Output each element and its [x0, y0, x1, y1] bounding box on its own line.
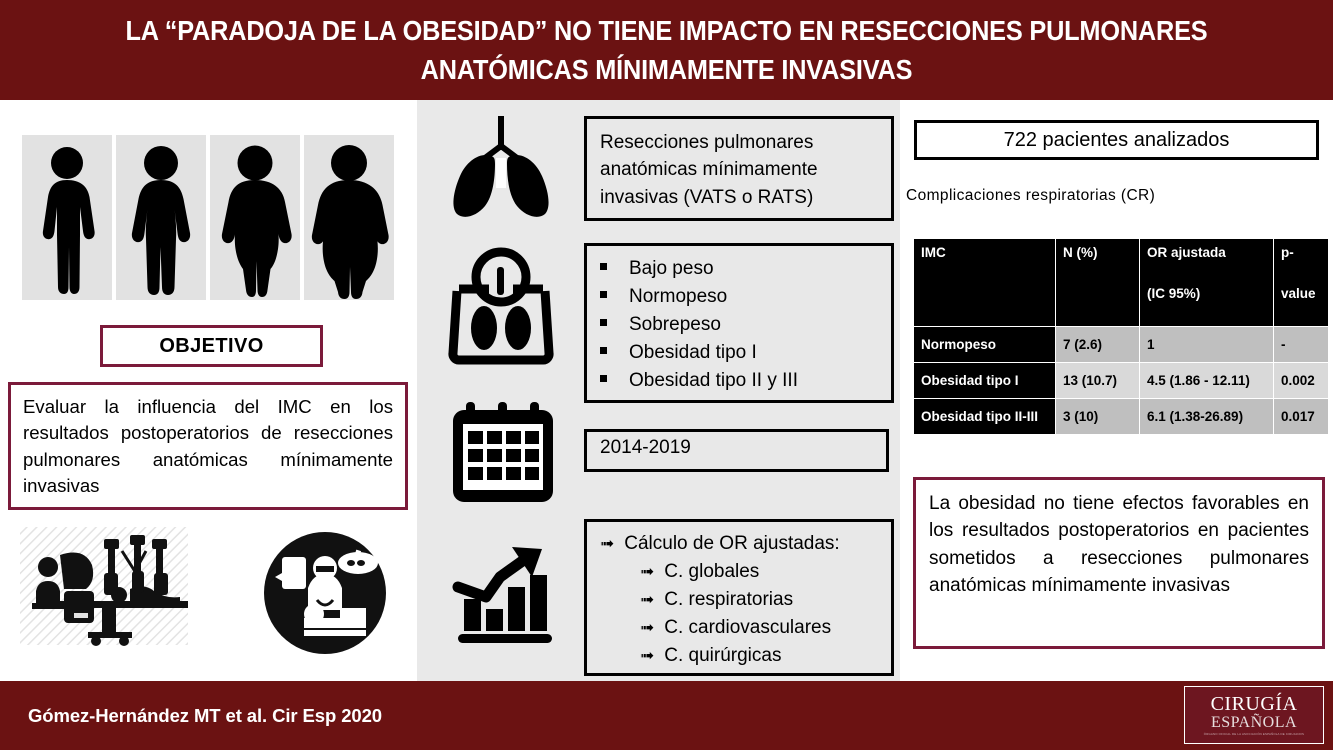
cell-n-percent: 13 (10.7) [1056, 363, 1140, 399]
col-header-pvalue: p- value [1274, 239, 1329, 327]
cell-or-ci: 6.1 (1.38-26.89) [1140, 399, 1274, 435]
square-bullet-icon [600, 291, 607, 298]
arrow-bullet-icon: ➟ [640, 644, 654, 669]
body-normal-icon [116, 135, 206, 300]
logo-line2: ESPAÑOLA [1211, 714, 1297, 732]
objetivo-title-box: OBJETIVO [100, 325, 323, 367]
resecciones-text: Resecciones pulmonares anatómicas mínima… [600, 129, 878, 211]
infographic-poster: LA “PARADOJA DE LA OBESIDAD” NO TIENE IM… [0, 0, 1333, 750]
list-item: ➟Cálculo de OR ajustadas: [600, 530, 878, 558]
cirugia-espanola-logo: CIRUGÍA ESPAÑOLA ÓRGANO OFICIAL DE LA AS… [1184, 686, 1324, 744]
list-item: ➟C. globales [640, 558, 878, 586]
robotic-surgery-icon [18, 525, 204, 655]
cell-p-value: - [1274, 327, 1329, 363]
table-header: IMC N (%) OR ajustada (IC 95%) p- value [914, 239, 1329, 327]
imc-category-label: Obesidad tipo II y III [629, 367, 798, 395]
patients-analyzed-box: 722 pacientes analizados [914, 120, 1319, 160]
col-header-imc: IMC [914, 239, 1056, 327]
table-row: Normopeso 7 (2.6) 1 - [914, 327, 1329, 363]
objetivo-text: Evaluar la influencia del IMC en los res… [23, 394, 393, 500]
list-item: ➟C. cardiovasculares [640, 614, 878, 642]
col-header-or-line1: OR ajustada [1147, 245, 1226, 260]
calendar-icon [449, 400, 557, 510]
cell-n-percent: 3 (10) [1056, 399, 1140, 435]
square-bullet-icon [600, 347, 607, 354]
body-underweight-icon [22, 135, 112, 300]
objetivo-label: OBJETIVO [159, 335, 263, 358]
table-header-row: IMC N (%) OR ajustada (IC 95%) p- value [914, 239, 1329, 327]
page-title: LA “PARADOJA DE LA OBESIDAD” NO TIENE IM… [90, 11, 1243, 89]
logo-line1: CIRUGÍA [1211, 694, 1298, 714]
imc-category-label: Obesidad tipo I [629, 339, 757, 367]
study-period-box: 2014-2019 [584, 429, 889, 472]
or-item-label: C. respiratorias [664, 586, 793, 614]
list-item: Bajo peso [600, 255, 878, 283]
col-header-n-percent: N (%) [1056, 239, 1140, 327]
imc-category-label: Bajo peso [629, 255, 714, 283]
arrow-bullet-icon: ➟ [640, 616, 654, 641]
list-item: Obesidad tipo I [600, 339, 878, 367]
square-bullet-icon [600, 263, 607, 270]
or-item-label: C. quirúrgicas [664, 642, 781, 670]
cell-p-value: 0.002 [1274, 363, 1329, 399]
complications-label: Complicaciones respiratorias (CR) [906, 187, 1155, 205]
cell-imc: Obesidad tipo I [914, 363, 1056, 399]
body-obese-icon [304, 135, 394, 300]
or-heading-label: Cálculo de OR ajustadas: [624, 530, 839, 558]
study-period-text: 2014-2019 [600, 437, 691, 458]
cell-or-ci: 1 [1140, 327, 1274, 363]
objetivo-text-box: Evaluar la influencia del IMC en los res… [8, 382, 408, 510]
imc-categories-box: Bajo peso Normopeso Sobrepeso Obesidad t… [584, 243, 894, 403]
or-item-label: C. globales [664, 558, 759, 586]
list-item: Obesidad tipo II y III [600, 367, 878, 395]
table-row: Obesidad tipo I 13 (10.7) 4.5 (1.86 - 12… [914, 363, 1329, 399]
poster-header: LA “PARADOJA DE LA OBESIDAD” NO TIENE IM… [0, 0, 1333, 100]
cell-or-ci: 4.5 (1.86 - 12.11) [1140, 363, 1274, 399]
conclusion-box: La obesidad no tiene efectos favorables … [913, 477, 1325, 649]
list-item: Sobrepeso [600, 311, 878, 339]
imc-categories-list: Bajo peso Normopeso Sobrepeso Obesidad t… [600, 255, 878, 395]
bar-chart-growth-icon [450, 537, 560, 645]
cell-p-value: 0.017 [1274, 399, 1329, 435]
col-header-or-line2: (IC 95%) [1147, 286, 1266, 301]
list-item: ➟C. respiratorias [640, 586, 878, 614]
imc-category-label: Normopeso [629, 283, 727, 311]
cell-imc: Normopeso [914, 327, 1056, 363]
respiratory-complications-table: IMC N (%) OR ajustada (IC 95%) p- value … [913, 238, 1329, 435]
col-header-pvalue-line2: value [1281, 286, 1321, 301]
or-item-label: C. cardiovasculares [664, 614, 831, 642]
table-row: Obesidad tipo II-III 3 (10) 6.1 (1.38-26… [914, 399, 1329, 435]
arrow-bullet-icon: ➟ [640, 560, 654, 585]
weight-scale-icon [447, 245, 555, 367]
or-calculations-box: ➟Cálculo de OR ajustadas: ➟C. globales ➟… [584, 519, 894, 676]
arrow-bullet-icon: ➟ [640, 588, 654, 613]
lungs-icon [443, 116, 559, 222]
arrow-bullet-icon: ➟ [600, 532, 614, 557]
operating-room-icon [262, 530, 388, 656]
table-body: Normopeso 7 (2.6) 1 - Obesidad tipo I 13… [914, 327, 1329, 435]
square-bullet-icon [600, 375, 607, 382]
poster-footer: Gómez-Hernández MT et al. Cir Esp 2020 [0, 681, 1333, 750]
or-calculations-list: ➟Cálculo de OR ajustadas: ➟C. globales ➟… [600, 530, 878, 670]
resecciones-box: Resecciones pulmonares anatómicas mínima… [584, 116, 894, 221]
list-item: Normopeso [600, 283, 878, 311]
body-figures-row [22, 135, 398, 300]
col-header-or: OR ajustada (IC 95%) [1140, 239, 1274, 327]
logo-subtitle: ÓRGANO OFICIAL DE LA ASOCIACIÓN ESPAÑOLA… [1204, 732, 1304, 736]
conclusion-text: La obesidad no tiene efectos favorables … [929, 490, 1309, 599]
patients-analyzed-text: 722 pacientes analizados [1004, 129, 1230, 152]
body-overweight-icon [210, 135, 300, 300]
surgery-icons-group [18, 525, 408, 670]
cell-n-percent: 7 (2.6) [1056, 327, 1140, 363]
square-bullet-icon [600, 319, 607, 326]
citation-text: Gómez-Hernández MT et al. Cir Esp 2020 [28, 705, 382, 727]
cell-imc: Obesidad tipo II-III [914, 399, 1056, 435]
col-header-pvalue-line1: p- [1281, 245, 1294, 260]
imc-category-label: Sobrepeso [629, 311, 721, 339]
list-item: ➟C. quirúrgicas [640, 642, 878, 670]
